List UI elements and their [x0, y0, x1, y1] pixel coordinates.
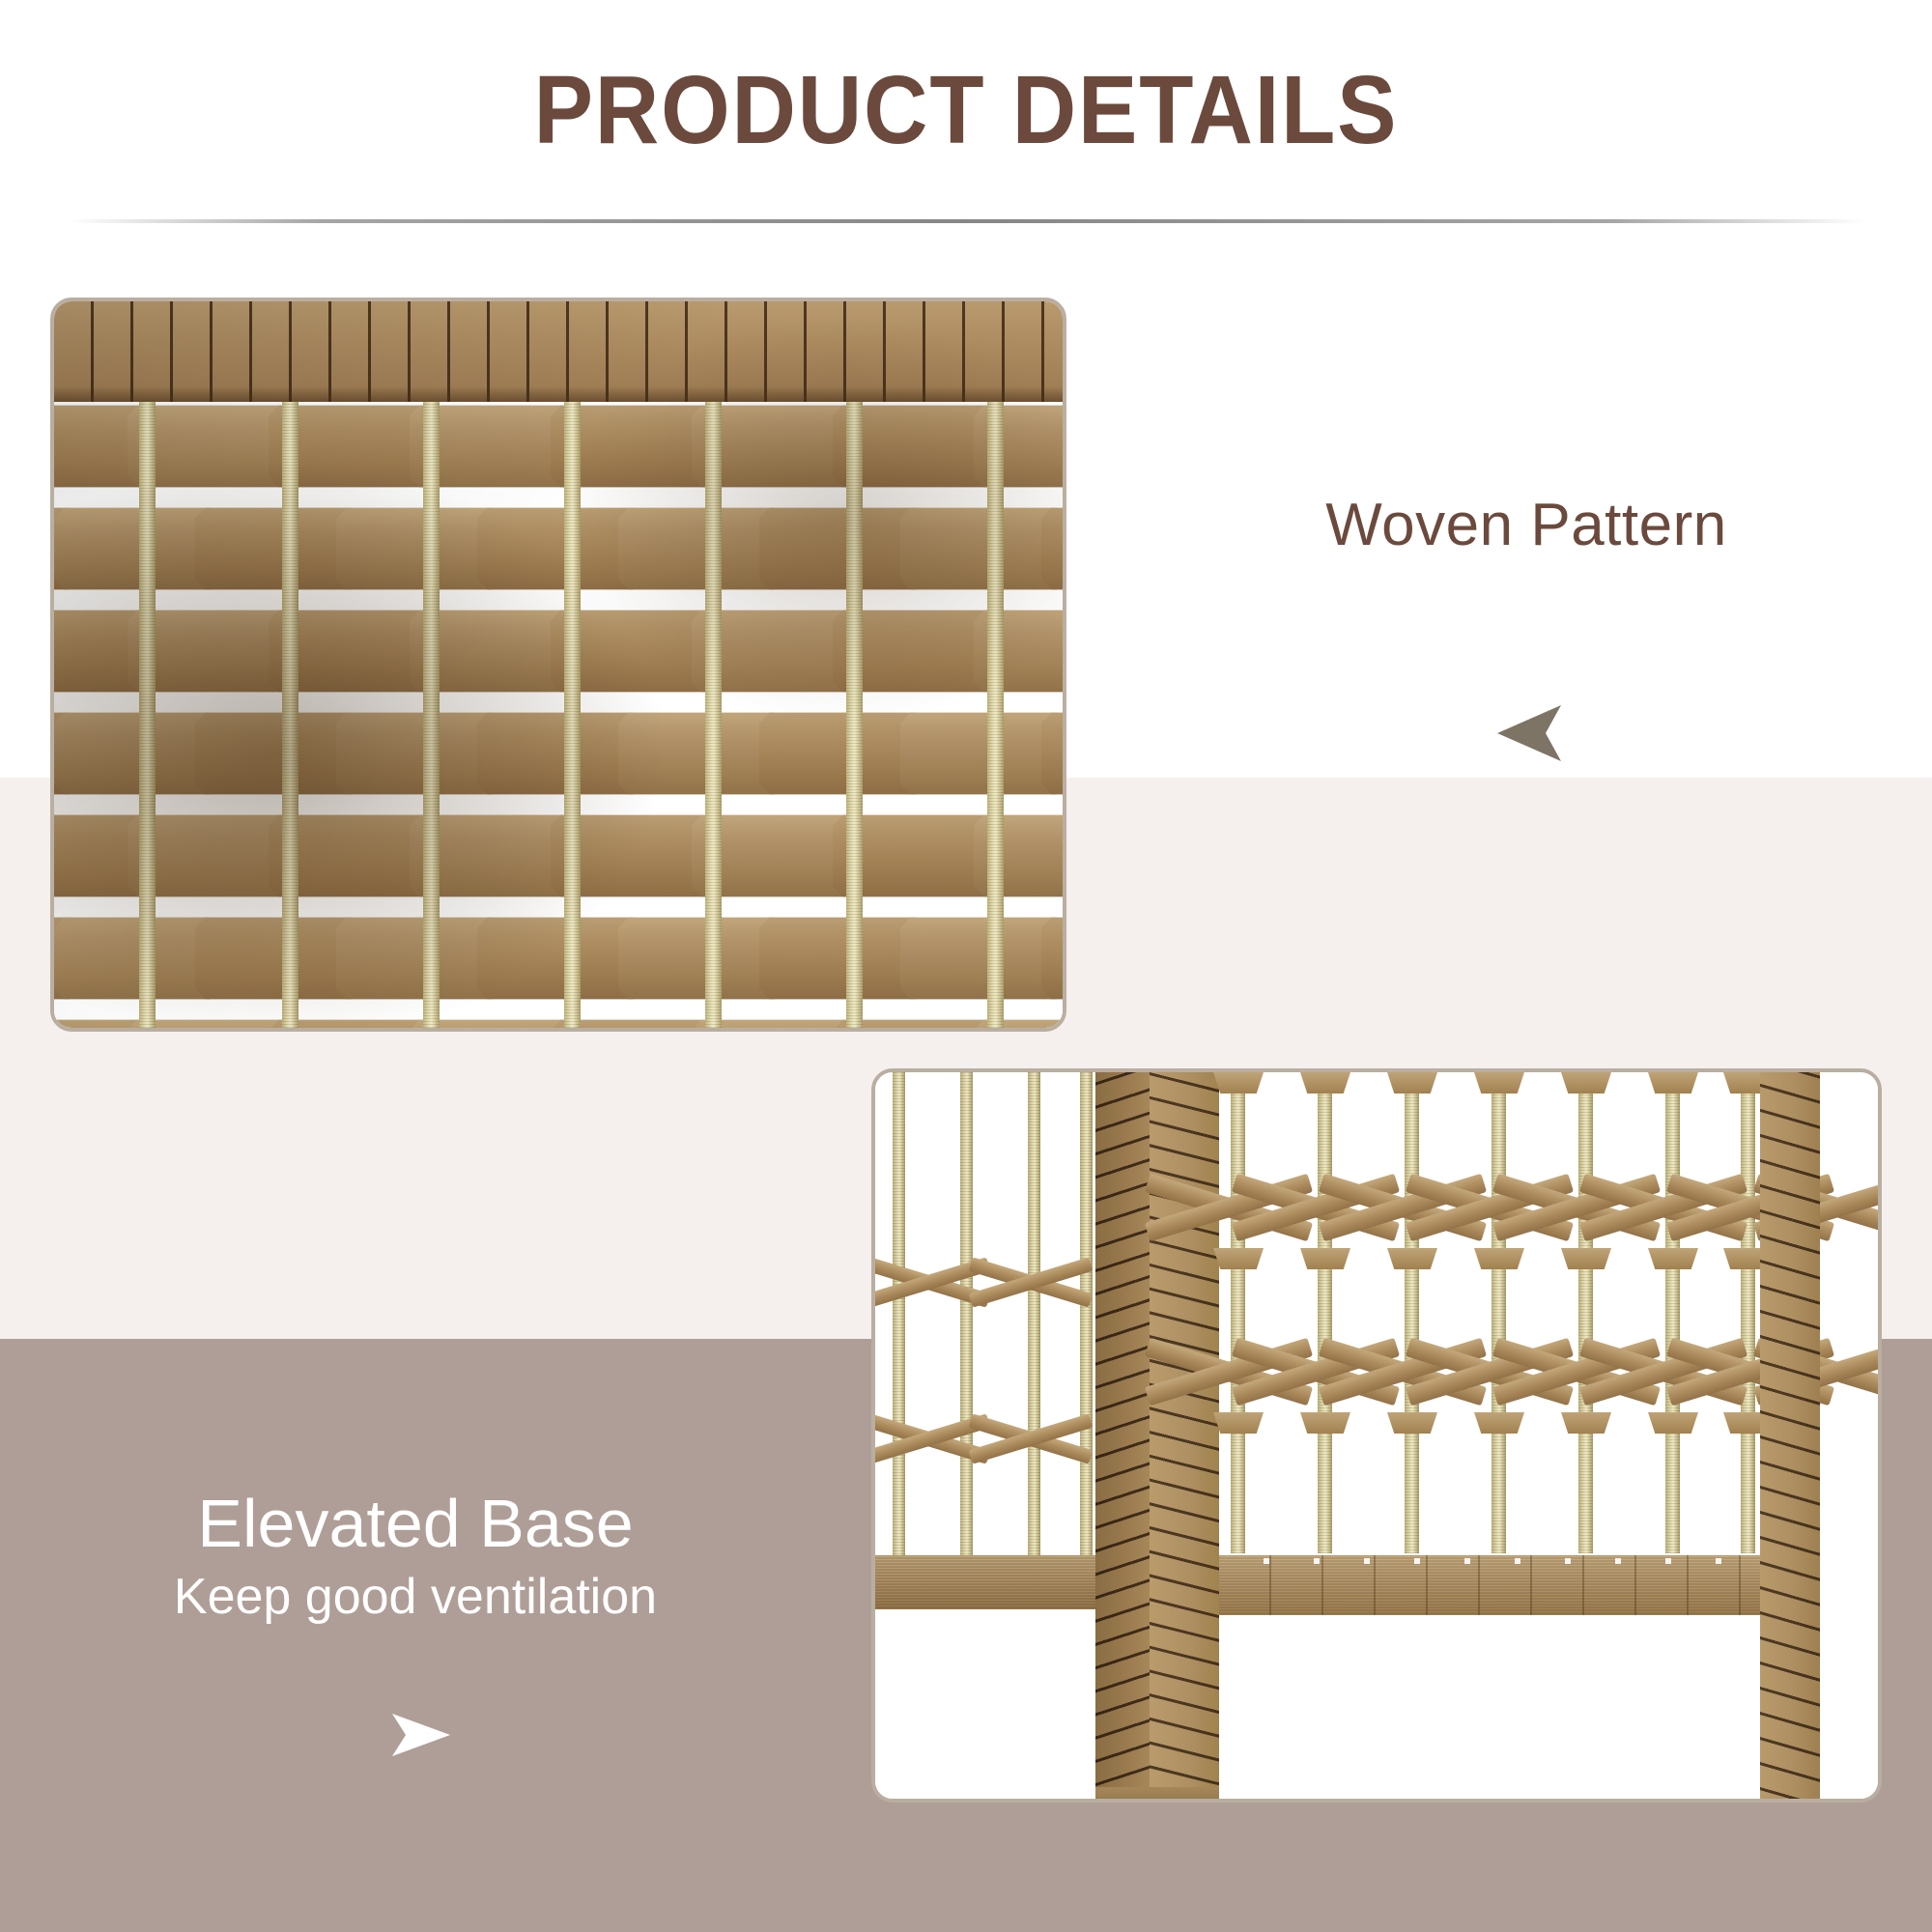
woven-top-shadow	[54, 386, 1063, 402]
lattice-cord	[1741, 1072, 1755, 1553]
elevated-base-subtitle: Keep good ventilation	[68, 1567, 763, 1627]
planter-side-panel	[875, 1072, 1099, 1799]
corner-post-foot	[1095, 1787, 1219, 1803]
lattice-cord-cap	[1474, 1412, 1524, 1434]
woven-binding-cord	[705, 402, 722, 1028]
elevated-base-label-group: Elevated Base Keep good ventilation	[68, 1486, 763, 1628]
lattice-cord-cap	[1300, 1072, 1350, 1094]
lattice-cord-cap	[1387, 1248, 1437, 1269]
woven-binding-cord	[423, 402, 440, 1028]
side-panel-cord	[1028, 1072, 1040, 1560]
lattice-cord-cap	[1387, 1072, 1437, 1094]
lattice-cord	[1578, 1072, 1593, 1553]
planter-side-rail	[875, 1555, 1099, 1609]
woven-slat-row	[54, 504, 1063, 593]
lattice-cord-cap	[1561, 1412, 1611, 1434]
woven-body	[54, 402, 1063, 1028]
woven-pattern-label: Woven Pattern	[1159, 491, 1893, 559]
elevated-base-title: Elevated Base	[68, 1486, 763, 1561]
woven-binding-cord	[282, 402, 298, 1028]
woven-binding-cord	[139, 402, 156, 1028]
bottom-rail-studs	[1219, 1558, 1791, 1564]
lattice-cord-cap	[1474, 1248, 1524, 1269]
lattice-cord	[1665, 1072, 1680, 1553]
lattice-cord-cap	[1300, 1248, 1350, 1269]
woven-slat	[1041, 709, 1066, 798]
planter-right-leg	[1760, 1072, 1820, 1803]
corner-post-left-face	[1095, 1072, 1150, 1789]
lattice-cord	[1492, 1072, 1506, 1553]
bottom-rail-seams	[1219, 1555, 1791, 1615]
woven-binding-cord	[846, 402, 863, 1028]
woven-slat	[1041, 914, 1066, 1003]
lattice-cord-cap	[1561, 1072, 1611, 1094]
lattice-cord	[1231, 1072, 1245, 1553]
lattice-cord-cap	[1648, 1072, 1698, 1094]
woven-binding-cord	[987, 402, 1004, 1028]
woven-slat-row	[54, 402, 1063, 491]
planter-front-lattice	[1219, 1072, 1760, 1799]
woven-binding-cord	[564, 402, 581, 1028]
woven-slat-row	[54, 709, 1063, 798]
lattice-cord-cap	[1648, 1412, 1698, 1434]
lattice-cord-cap	[1648, 1248, 1698, 1269]
woven-slat-row	[54, 607, 1063, 696]
side-panel-cord	[1080, 1072, 1093, 1560]
lattice-cord-cap	[1300, 1412, 1350, 1434]
lattice-cord	[1405, 1072, 1419, 1553]
woven-pattern-image	[54, 301, 1063, 1028]
woven-slat	[1041, 504, 1066, 593]
elevated-base-photo-card	[871, 1068, 1882, 1803]
woven-pattern-photo-card	[50, 298, 1066, 1032]
lattice-cord-cap	[1213, 1072, 1264, 1094]
lattice-cord-cap	[1213, 1248, 1264, 1269]
lattice-cord-cap	[1474, 1072, 1524, 1094]
woven-top-band	[54, 301, 1063, 402]
woven-slat-row	[54, 1016, 1063, 1032]
planter-bottom-rail	[1219, 1555, 1791, 1615]
title-divider	[68, 219, 1864, 223]
woven-slat-row	[54, 914, 1063, 1003]
lattice-cord-cap	[1561, 1248, 1611, 1269]
lattice-cord	[1318, 1072, 1332, 1553]
lattice-cord-cap	[1213, 1412, 1264, 1434]
side-panel-cord	[960, 1072, 973, 1560]
side-panel-cord	[893, 1072, 905, 1560]
lattice-cord-cap	[1387, 1412, 1437, 1434]
elevated-base-image	[875, 1072, 1878, 1799]
page-title: PRODUCT DETAILS	[77, 60, 1855, 161]
arrow-right-icon	[390, 1710, 452, 1760]
woven-slat-row	[54, 811, 1063, 900]
